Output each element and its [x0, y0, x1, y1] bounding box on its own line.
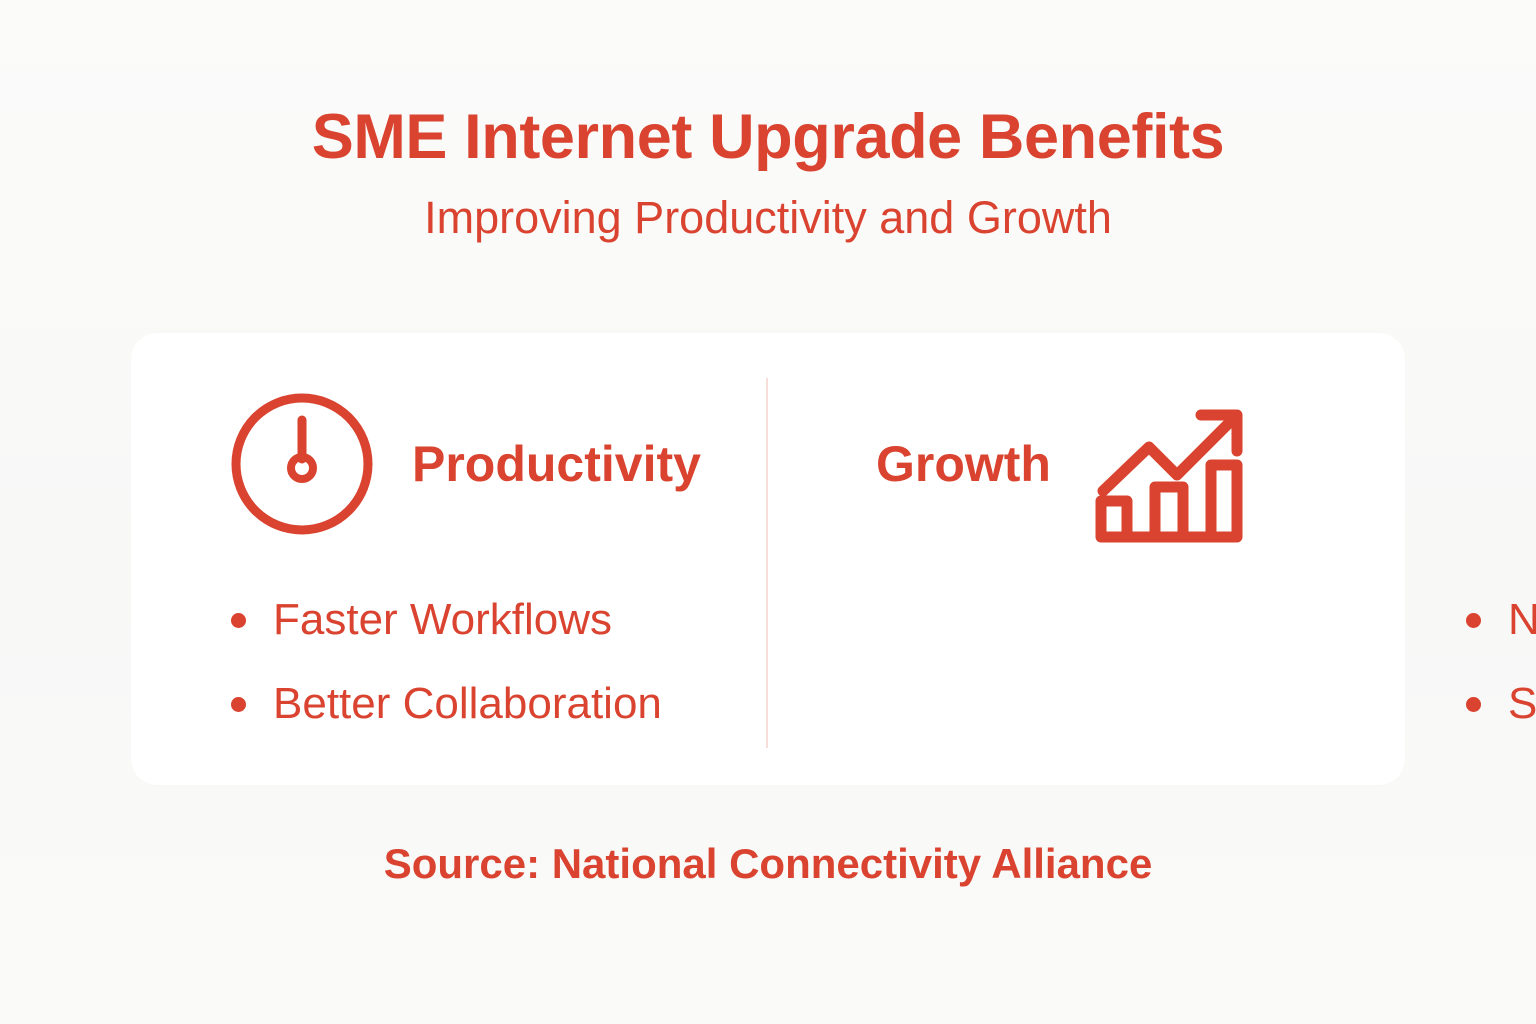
list-item-label: Faster Workflows [273, 595, 612, 645]
bullet-dot-icon [231, 697, 246, 712]
footer: Source: National Connectivity Alliance [0, 841, 1536, 887]
header: SME Internet Upgrade Benefits Improving … [0, 104, 1536, 242]
growth-bullet-list: New Markets Scalable Tech [1466, 578, 1536, 746]
benefits-card: Productivity Faster Workflows Better Col… [131, 333, 1405, 785]
benefit-column-productivity: Productivity Faster Workflows Better Col… [131, 333, 766, 785]
list-item: New Markets [1466, 578, 1536, 662]
list-item: Better Collaboration [231, 662, 662, 746]
growth-header: Growth [876, 389, 1245, 539]
list-item-label: Better Collaboration [273, 679, 662, 729]
bullet-dot-icon [1466, 613, 1481, 628]
list-item: Faster Workflows [231, 578, 662, 662]
growth-label: Growth [876, 439, 1051, 489]
benefit-columns: Productivity Faster Workflows Better Col… [131, 333, 1405, 785]
productivity-bullet-list: Faster Workflows Better Collaboration [231, 578, 662, 746]
page-subtitle: Improving Productivity and Growth [0, 193, 1536, 243]
benefit-column-growth: Growth New Markets [766, 333, 1405, 785]
productivity-label: Productivity [412, 439, 701, 489]
list-item-label: Scalable Tech [1508, 679, 1536, 729]
productivity-header: Productivity [226, 389, 701, 539]
list-item-label: New Markets [1508, 595, 1536, 645]
infographic-stage: SME Internet Upgrade Benefits Improving … [0, 0, 1536, 1024]
page-title: SME Internet Upgrade Benefits [0, 104, 1536, 171]
clock-icon [226, 389, 378, 539]
source-attribution: Source: National Connectivity Alliance [0, 841, 1536, 887]
growth-chart-icon [1093, 389, 1245, 539]
bullet-dot-icon [231, 613, 246, 628]
list-item: Scalable Tech [1466, 662, 1536, 746]
bullet-dot-icon [1466, 697, 1481, 712]
